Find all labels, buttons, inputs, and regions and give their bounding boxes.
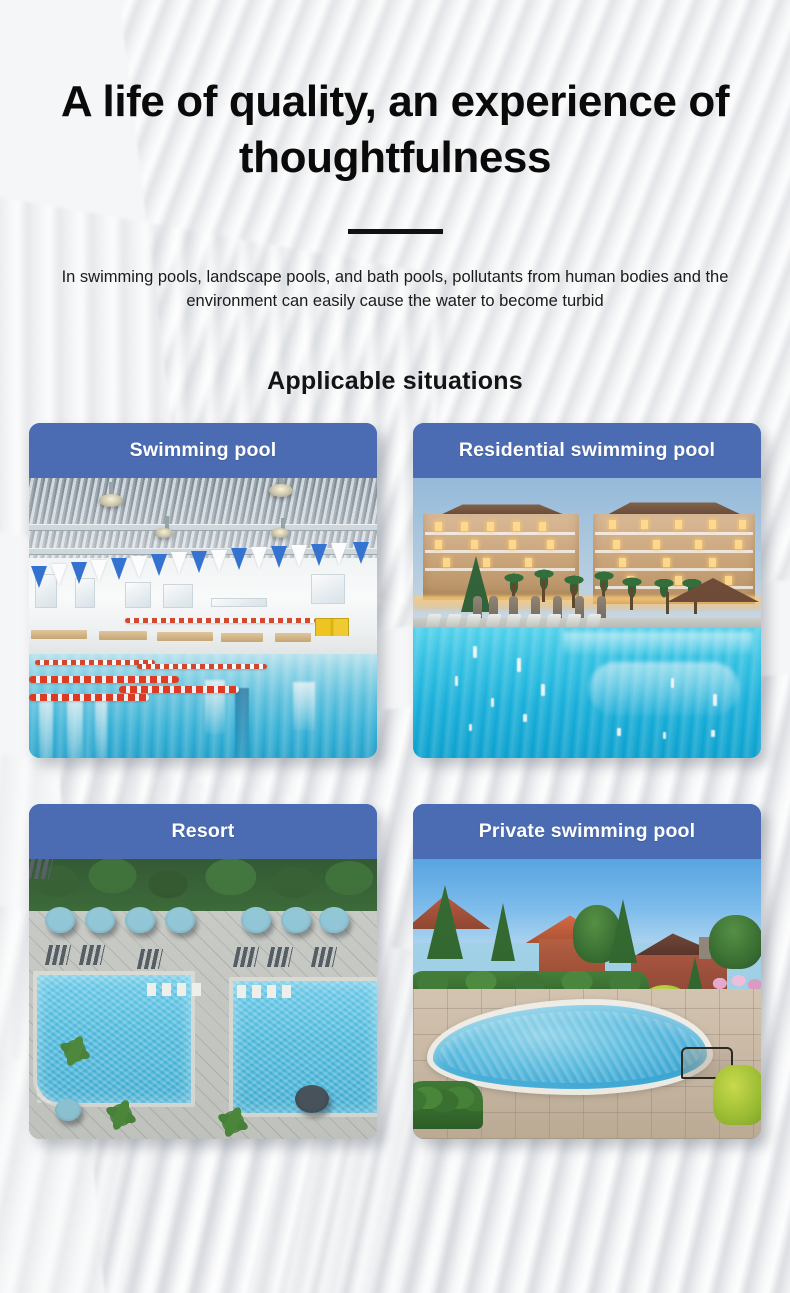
lit-window	[487, 522, 494, 531]
lit-window	[709, 520, 716, 529]
ceiling-beam	[29, 524, 377, 531]
water-sparkle	[455, 676, 458, 686]
pennant-flag	[131, 556, 147, 578]
lit-window	[539, 522, 546, 531]
pennant-flag	[31, 566, 47, 588]
lounger-pair	[311, 947, 337, 967]
card-title-residential-swimming-pool: Residential swimming pool	[413, 423, 761, 478]
pennant-flag	[71, 562, 87, 584]
balcony-rail	[425, 550, 575, 553]
hero-subtitle: In swimming pools, landscape pools, and …	[0, 266, 790, 314]
pool-water	[413, 628, 761, 758]
palm-tree	[529, 562, 559, 596]
water-sparkle	[517, 658, 521, 672]
pennant-flag	[331, 543, 347, 565]
window-reflection	[67, 698, 83, 758]
card-photo-residential-swimming-pool	[413, 478, 761, 758]
pennant-flag	[171, 552, 187, 574]
promo-page: A life of quality, an experience of thou…	[0, 0, 790, 1293]
window	[311, 574, 345, 604]
pennant-flag	[251, 547, 267, 569]
water-sparkle	[541, 684, 545, 696]
card-photo-swimming-pool	[29, 478, 377, 758]
card-title-private-swimming-pool: Private swimming pool	[413, 804, 761, 859]
pennant-flag	[91, 560, 107, 582]
water-sparkle	[711, 730, 715, 737]
garden-hedge	[413, 1081, 483, 1129]
lit-window	[619, 558, 626, 567]
situation-card-resort[interactable]: Resort	[29, 804, 377, 1139]
bleacher-bench	[99, 631, 147, 640]
bleacher-bench	[221, 633, 263, 642]
window	[163, 584, 193, 608]
lit-window	[675, 520, 682, 529]
pennant-flag	[111, 558, 127, 580]
lane-rope	[119, 686, 239, 693]
tree-canopy-row	[29, 859, 377, 915]
window-reflection	[39, 694, 53, 758]
lit-window	[513, 522, 520, 531]
lit-window	[509, 540, 516, 549]
situation-card-swimming-pool[interactable]: Swimming pool	[29, 423, 377, 758]
lit-window	[709, 558, 716, 567]
page-title: A life of quality, an experience of thou…	[0, 74, 790, 187]
pool-water	[29, 654, 377, 758]
palm-tree	[559, 568, 589, 602]
pennant-flag	[211, 550, 227, 572]
bleacher-bench	[275, 633, 311, 642]
window-reflection	[293, 682, 315, 730]
water-sparkle	[491, 698, 494, 707]
lounger-pair	[79, 945, 105, 965]
lit-window	[735, 540, 742, 549]
balcony-rail	[595, 532, 753, 535]
lane-rope	[29, 676, 179, 683]
pennant-flag	[151, 554, 167, 576]
water-sparkle	[473, 646, 477, 658]
lounger-pair	[267, 947, 293, 967]
window-reflection	[95, 694, 107, 758]
lit-window	[739, 520, 746, 529]
conifer-tree	[491, 903, 515, 961]
balcony-rail	[595, 550, 753, 553]
pennant-flag	[191, 551, 207, 573]
window	[125, 582, 151, 608]
lit-window	[609, 520, 616, 529]
water-reflection	[589, 662, 739, 716]
pennant-flag	[231, 548, 247, 570]
pennant-flag	[291, 545, 307, 567]
title-divider	[348, 229, 443, 234]
gazebo-roof	[667, 578, 759, 602]
pennant-flag	[271, 546, 287, 568]
pennant-flag	[311, 544, 327, 566]
pennant-flag	[353, 542, 369, 564]
palm-tree	[617, 570, 647, 604]
pennant-flag	[51, 564, 67, 586]
poolside-tables	[147, 983, 205, 996]
lounger-pair	[137, 949, 163, 969]
card-title-resort: Resort	[29, 804, 377, 859]
lit-window	[641, 520, 648, 529]
water-sparkle	[671, 678, 674, 688]
water-sparkle	[663, 732, 666, 739]
water-reflection	[563, 632, 753, 654]
lit-window	[435, 522, 442, 531]
lit-window	[443, 558, 450, 567]
lounger-pair	[45, 945, 71, 965]
palm-tree	[499, 566, 529, 600]
water-sparkle	[713, 694, 717, 706]
lit-window	[695, 540, 702, 549]
lit-window	[663, 558, 670, 567]
card-title-swimming-pool: Swimming pool	[29, 423, 377, 478]
card-photo-private-swimming-pool	[413, 859, 761, 1139]
yellow-shrub	[713, 1065, 761, 1125]
bleacher-bench	[157, 632, 213, 641]
balcony-rail	[425, 532, 575, 535]
poolside-tables	[237, 985, 295, 998]
conifer-tree	[427, 885, 463, 959]
water-sparkle	[523, 714, 527, 722]
situation-card-grid: Swimming pool	[29, 423, 761, 1139]
water-sparkle	[469, 724, 472, 731]
palm-tree	[589, 564, 619, 598]
section-title: Applicable situations	[0, 367, 790, 396]
lit-window	[653, 540, 660, 549]
window	[211, 598, 267, 607]
leafy-tree	[709, 915, 761, 969]
lane-marking	[235, 688, 249, 758]
lit-window	[613, 540, 620, 549]
lane-rope	[29, 694, 149, 701]
situation-card-residential-swimming-pool[interactable]: Residential swimming pool	[413, 423, 761, 758]
lounger-pair	[233, 947, 259, 967]
hero-section: A life of quality, an experience of thou…	[0, 0, 790, 313]
lit-window	[547, 540, 554, 549]
conifer-tree	[609, 899, 637, 963]
bleacher-bench	[31, 630, 87, 639]
water-sparkle	[617, 728, 621, 736]
lit-window	[471, 540, 478, 549]
card-photo-resort	[29, 859, 377, 1139]
lane-rope	[125, 618, 315, 623]
situation-card-private-swimming-pool[interactable]: Private swimming pool	[413, 804, 761, 1139]
lit-window	[435, 540, 442, 549]
lane-rope	[137, 664, 267, 669]
lit-window	[461, 522, 468, 531]
